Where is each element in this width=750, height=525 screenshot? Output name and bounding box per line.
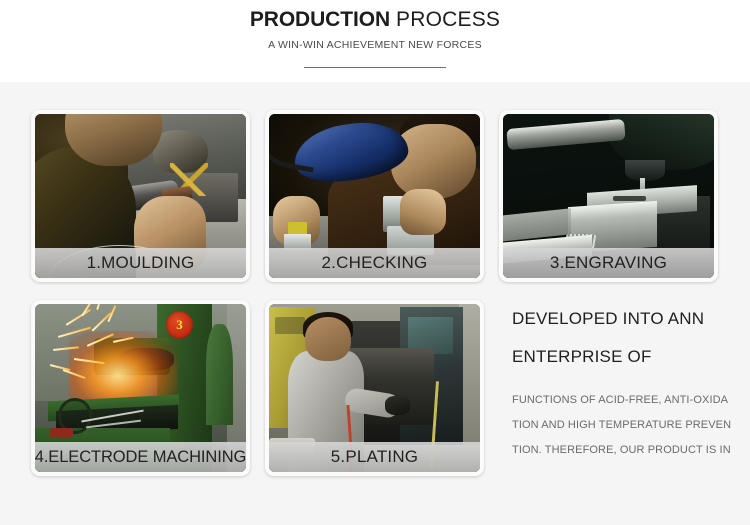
page-header: PRODUCTION PROCESS A WIN-WIN ACHIEVEMENT… [0, 0, 750, 82]
card-caption-bar: 1.MOULDING [35, 248, 246, 278]
page-title-strong: PRODUCTION [250, 8, 390, 31]
card-caption-moulding: 1.MOULDING [87, 253, 195, 273]
process-card-moulding[interactable]: 1.MOULDING [31, 110, 250, 282]
description-column: DEVELOPED INTO ANN ENTERPRISE OF FUNCTIO… [512, 300, 737, 463]
card-photo-moulding: 1.MOULDING [35, 114, 246, 278]
process-grid: 1.MOULDING 2.CHECKING [0, 82, 750, 525]
card-caption-plating: 5.PLATING [331, 447, 418, 467]
process-card-checking[interactable]: 2.CHECKING [265, 110, 484, 282]
card-caption-checking: 2.CHECKING [322, 253, 428, 273]
description-body-line-1: FUNCTIONS OF ACID-FREE, ANTI-OXIDA [512, 388, 737, 413]
card-photo-electrode-machining: 3 4.ELECTRODE MACHINING [35, 304, 246, 472]
page-title: PRODUCTION PROCESS [0, 0, 750, 33]
card-caption-bar: 3.ENGRAVING [503, 248, 714, 278]
process-card-plating[interactable]: 5.PLATING [265, 300, 484, 476]
description-body-line-2: TION AND HIGH TEMPERATURE PREVEN [512, 413, 737, 438]
process-card-engraving[interactable]: 3.ENGRAVING [499, 110, 718, 282]
card-photo-engraving: 3.ENGRAVING [503, 114, 714, 278]
header-divider [304, 67, 446, 68]
description-body-line-3: TION. THEREFORE, OUR PRODUCT IS IN [512, 438, 737, 463]
card-photo-plating: 5.PLATING [269, 304, 480, 472]
spark-particles [48, 307, 179, 401]
process-card-electrode-machining[interactable]: 3 4.ELECTRODE MACHINING [31, 300, 250, 476]
card-caption-electrode-machining: 4.ELECTRODE MACHINING [35, 448, 246, 467]
description-heading-line-2: ENTERPRISE OF [512, 338, 737, 376]
description-heading-line-1: DEVELOPED INTO ANN [512, 300, 737, 338]
card-caption-engraving: 3.ENGRAVING [550, 253, 667, 273]
card-caption-bar: 5.PLATING [269, 442, 480, 472]
card-photo-checking: 2.CHECKING [269, 114, 480, 278]
page-subtitle: A WIN-WIN ACHIEVEMENT NEW FORCES [0, 33, 750, 52]
card-caption-bar: 4.ELECTRODE MACHINING [35, 442, 246, 472]
card-caption-bar: 2.CHECKING [269, 248, 480, 278]
page-title-light: PROCESS [390, 8, 500, 31]
